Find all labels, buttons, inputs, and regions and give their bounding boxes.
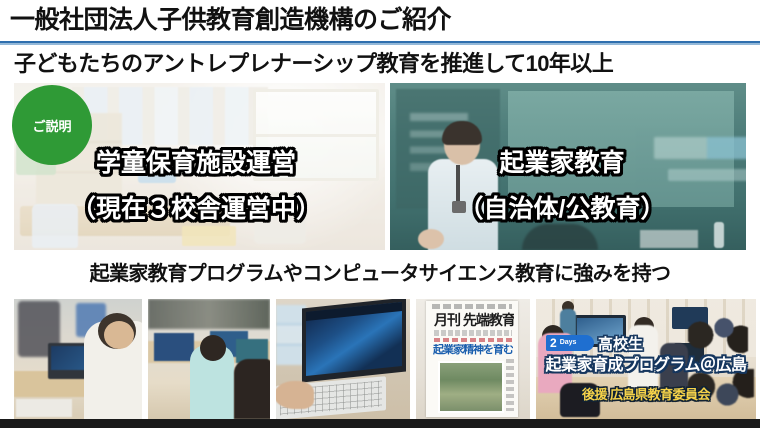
photo-classroom-laptops-2 — [148, 299, 270, 419]
software-toolbar-shape — [306, 302, 402, 321]
monitor-shape-1 — [154, 333, 194, 361]
audience-silhouette-shape — [522, 224, 598, 250]
photo-magazine-sentan-kyoiku: 月刊 先端教育 起業家精神を育む — [416, 299, 530, 419]
slide-root: 一般社団法人子供教育創造機構のご紹介 子どもたちのアントレプレナーシップ教育を推… — [0, 0, 760, 428]
magazine-redband-shape — [434, 338, 512, 342]
photo-laptop-3d-software — [276, 299, 410, 419]
explanation-badge-label: ご説明 — [32, 116, 71, 135]
two-days-badge: 2 Days — [546, 335, 594, 351]
hand-shape — [276, 381, 314, 409]
footer-bar — [0, 419, 760, 428]
magazine-cover-image-shape — [438, 361, 504, 413]
caption-daycare-line1: 学童保育施設運営 — [0, 143, 392, 179]
photo-classroom-laptops-1 — [14, 299, 142, 419]
handout-shape — [16, 399, 72, 417]
magazine-feature-headline: 起業家精神を育む — [433, 344, 513, 357]
magazine-topline-shape — [432, 304, 512, 309]
laptop-lid-shape — [302, 299, 406, 382]
speaker-hair-shape — [442, 121, 482, 145]
page-title: 一般社団法人子供教育創造機構のご紹介 — [10, 2, 750, 38]
bottle-shape — [714, 222, 724, 248]
hiroshima-caption-line2: 起業家育成プログラム＠広島 — [536, 351, 756, 375]
student-hair-shape — [200, 335, 226, 361]
caption-entrepreneur-line1: 起業家教育 — [382, 143, 742, 179]
two-days-badge-unit: Days — [560, 339, 577, 347]
caption-entrepreneur-line2: （自治体/公教育） — [382, 189, 742, 225]
laptop-screen-shape — [306, 302, 402, 376]
speaker-hand-shape — [418, 229, 444, 249]
background-blur-shape — [148, 299, 270, 329]
caption-daycare-line2: （現在３校舎運営中） — [0, 189, 392, 225]
hiroshima-sponsor-line: 後援 広島県教育委員会 — [536, 384, 756, 403]
magazine-sidetext-shape — [506, 359, 514, 411]
laptop-shape — [640, 230, 698, 248]
mid-headline: 起業家教育プログラムやコンピュータサイエンス教育に強みを持つ — [0, 259, 760, 289]
title-divider — [0, 41, 760, 45]
magazine-title: 月刊 先端教育 — [434, 311, 514, 329]
magazine-cover: 月刊 先端教育 起業家精神を育む — [426, 301, 518, 417]
two-days-badge-number: 2 — [550, 337, 557, 349]
bottom-photo-row: 月刊 先端教育 起業家精神を育む — [0, 299, 760, 419]
student-face-shape — [104, 321, 134, 349]
magazine-subtitle-shape — [434, 330, 512, 336]
photo-hiroshima-program: 2 Days 高校生 起業家育成プログラム＠広島 後援 広島県教育委員会 — [536, 299, 756, 419]
student-body-shape-2 — [234, 359, 270, 419]
slide-subtitle: 子どもたちのアントレプレナーシップ教育を推進して10年以上 — [14, 48, 758, 80]
